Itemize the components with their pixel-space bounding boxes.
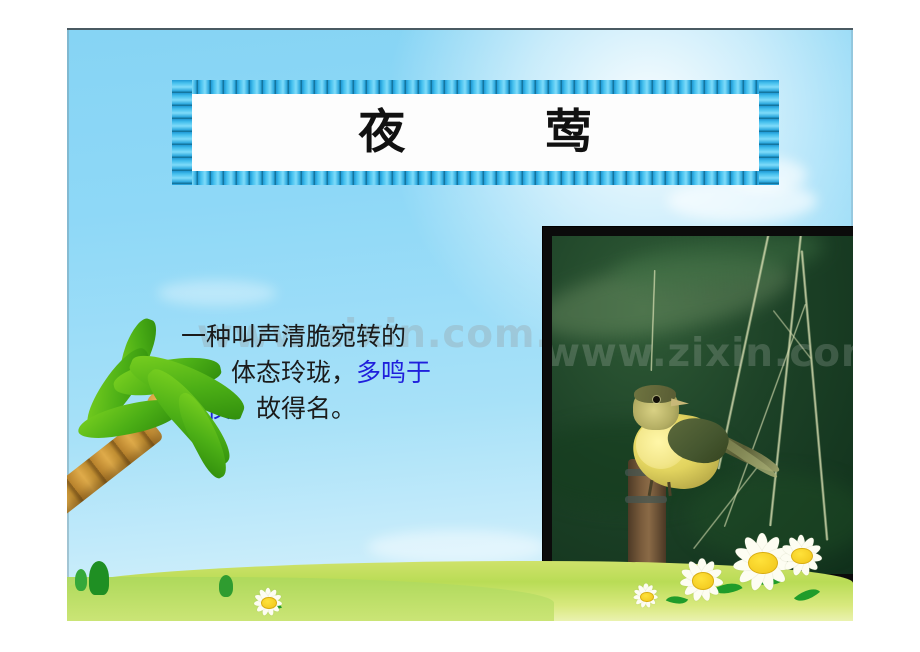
- nightingale-bird: [613, 381, 780, 496]
- bush-icon: [75, 569, 87, 591]
- bamboo-border-bottom: [172, 171, 779, 185]
- daisy-flower: [679, 557, 725, 603]
- bird-leg: [667, 482, 671, 496]
- bird-eye: [653, 396, 660, 403]
- cloud-icon: [367, 530, 547, 564]
- title-bamboo-frame: 夜 莺: [172, 80, 779, 185]
- slide-canvas: 夜 莺 www.zixin.com.cn 一种叫声清脆宛转的鸟，体态玲珑，多鸣于…: [67, 28, 853, 621]
- presentation-page: 夜 莺 www.zixin.com.cn 一种叫声清脆宛转的鸟，体态玲珑，多鸣于…: [0, 0, 920, 652]
- bamboo-border-right: [759, 80, 779, 185]
- daisy-center: [791, 548, 812, 565]
- perch-ring: [625, 496, 667, 503]
- cloud-icon: [157, 280, 277, 306]
- bush-icon: [219, 575, 233, 597]
- bird-photo: www.zixin.com.cn: [552, 236, 853, 574]
- daisy-center: [692, 572, 714, 589]
- daisy-flower: [253, 587, 283, 617]
- bird-photo-frame: www.zixin.com.cn: [543, 227, 853, 583]
- daisy-center: [748, 552, 777, 574]
- daisy-flower: [779, 533, 823, 577]
- bush-icon: [89, 561, 109, 595]
- daisy-center: [261, 597, 276, 609]
- daisy-flower: [633, 583, 659, 609]
- bird-beak: [671, 398, 690, 407]
- palm-tree: [67, 352, 291, 592]
- title-box: 夜 莺: [192, 94, 759, 171]
- bamboo-border-top: [172, 80, 779, 94]
- daisy-center: [640, 592, 653, 603]
- page-title: 夜 莺: [358, 109, 592, 156]
- watermark-overlay: www.zixin.com.cn: [552, 331, 853, 376]
- bamboo-border-left: [172, 80, 192, 185]
- bird-leg: [648, 480, 654, 496]
